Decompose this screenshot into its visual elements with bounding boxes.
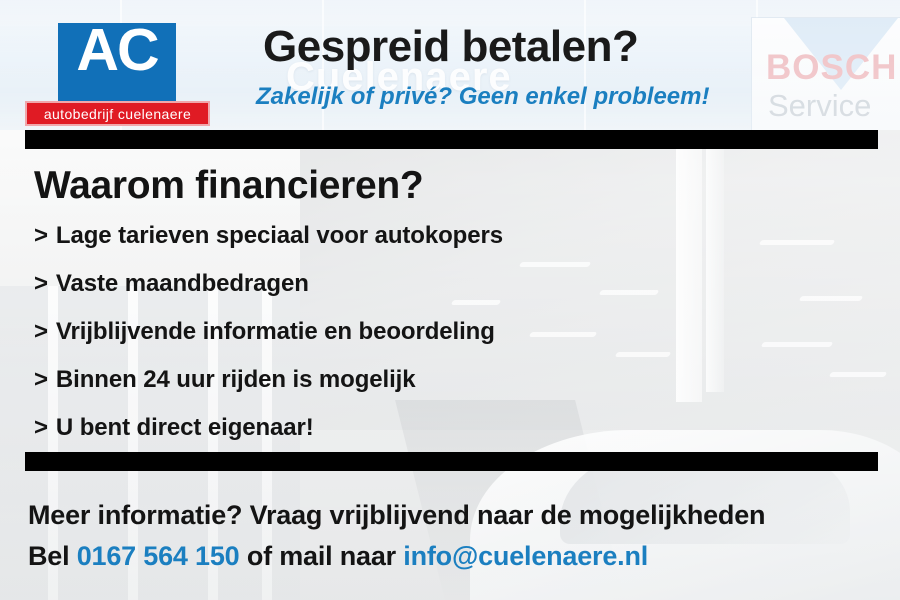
mail-connector-label: of mail naar [247, 541, 396, 571]
bullet-caret-icon: > [34, 414, 48, 441]
phone-number[interactable]: 0167 564 150 [77, 541, 240, 571]
divider-rule-top [25, 130, 878, 149]
divider-rule-bottom [25, 452, 878, 471]
list-item-label: Lage tarieven speciaal voor autokopers [56, 222, 503, 249]
benefits-list: >Lage tarieven speciaal voor autokopers … [34, 222, 834, 462]
financing-promo-banner: Cuelenaere BOSCH Service [0, 0, 900, 600]
section-title: Waarom financieren? [34, 164, 423, 208]
list-item: >Vrijblijvende informatie en beoordeling [34, 318, 834, 346]
bullet-caret-icon: > [34, 366, 48, 393]
logo-initials: AC [58, 21, 176, 80]
list-item: >Binnen 24 uur rijden is mogelijk [34, 366, 834, 394]
call-prefix-label: Bel [28, 541, 69, 571]
logo-name-text: autobedrijf cuelenaere [44, 106, 191, 122]
list-item-label: Vaste maandbedragen [56, 270, 309, 297]
bullet-caret-icon: > [34, 270, 48, 297]
footer-info-line: Meer informatie? Vraag vrijblijvend naar… [28, 500, 765, 531]
banner-headline: Gespreid betalen? [263, 22, 638, 72]
footer-contact-line: Bel 0167 564 150 of mail naar info@cuele… [28, 541, 648, 572]
list-item-label: U bent direct eigenaar! [56, 414, 314, 441]
banner-subheadline: Zakelijk of privé? Geen enkel probleem! [256, 83, 709, 111]
list-item-label: Binnen 24 uur rijden is mogelijk [56, 366, 416, 393]
bullet-caret-icon: > [34, 222, 48, 249]
banner-content: AC autobedrijf cuelenaere Gespreid betal… [0, 0, 900, 600]
email-address[interactable]: info@cuelenaere.nl [403, 541, 648, 571]
logo-name-strip: autobedrijf cuelenaere [25, 101, 210, 126]
list-item-label: Vrijblijvende informatie en beoordeling [56, 318, 495, 345]
bullet-caret-icon: > [34, 318, 48, 345]
list-item: >Lage tarieven speciaal voor autokopers [34, 222, 834, 250]
list-item: >U bent direct eigenaar! [34, 414, 834, 442]
list-item: >Vaste maandbedragen [34, 270, 834, 298]
company-logo: AC autobedrijf cuelenaere [58, 23, 176, 116]
